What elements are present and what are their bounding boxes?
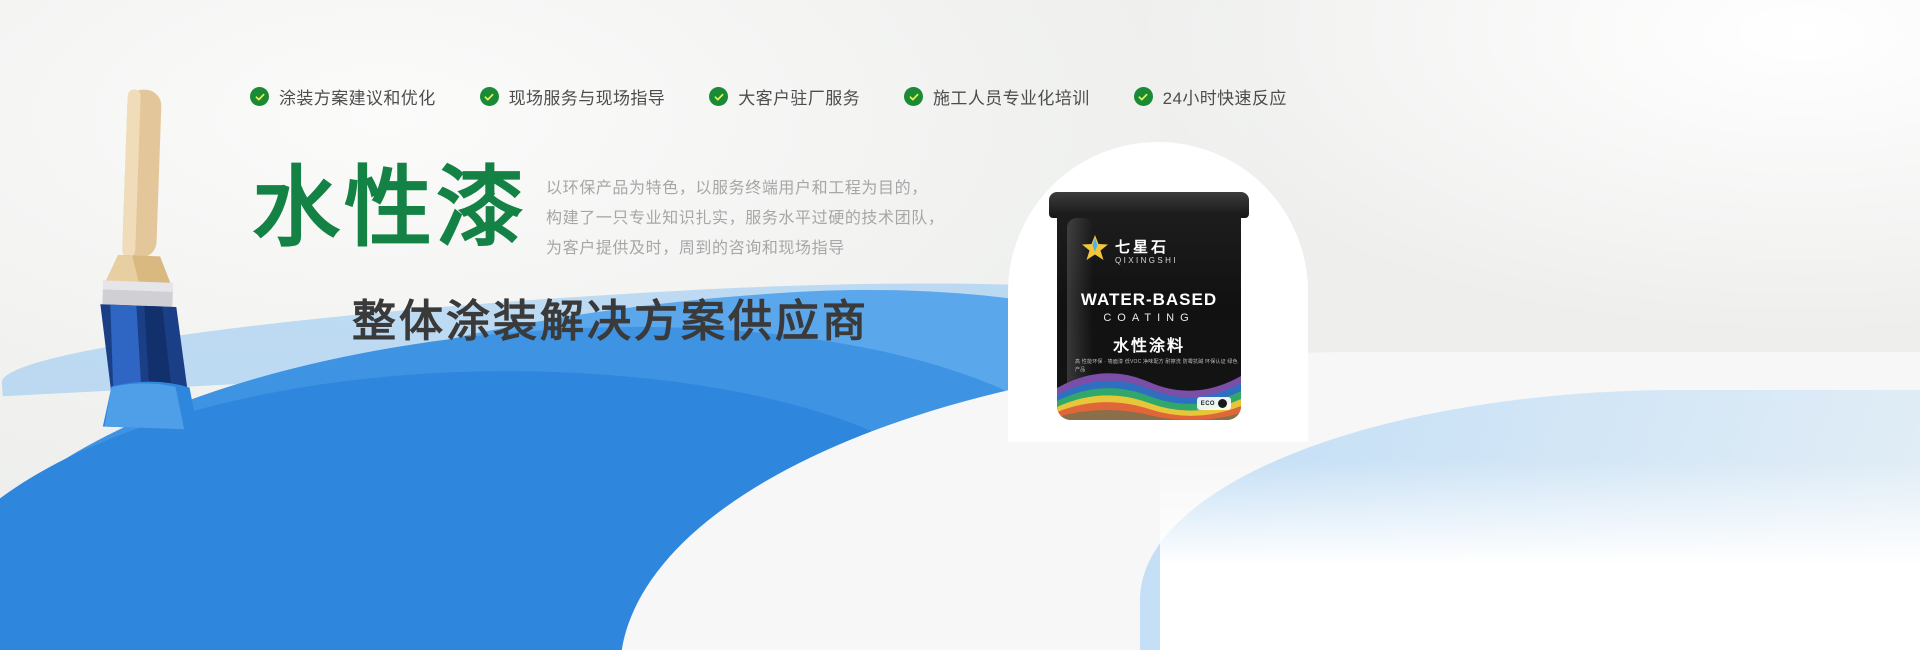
eco-label: ECO [1201,401,1215,407]
brand-name-en: QIXINGSHI [1115,256,1178,265]
check-circle-icon [709,87,728,106]
description-line: 为客户提供及时，周到的咨询和现场指导 [546,234,944,264]
feature-label: 大客户驻厂服务 [738,84,860,109]
promo-banner: 涂装方案建议和优化 现场服务与现场指导 大客户驻厂服务 施工人员专业化培训 24… [0,0,1920,650]
product-bucket-image: 七星石 QIXINGSHI WATER-BASED COATING 水性涂料 高… [1043,192,1255,424]
eco-badge: ECO [1197,397,1231,410]
headline-block: 水性漆 以环保产品为特色，以服务终端用户和工程为目的， 构建了一只专业知识扎实，… [252,160,944,264]
page-title: 水性漆 [252,160,528,256]
description-block: 以环保产品为特色，以服务终端用户和工程为目的， 构建了一只专业知识扎实，服务水平… [546,160,944,264]
check-circle-icon [904,87,923,106]
feature-label: 现场服务与现场指导 [509,84,666,109]
wave-bottom-fade [1160,460,1920,650]
brand-name-cn: 七星石 [1115,236,1169,257]
subheadline: 整体涂装解决方案供应商 [352,285,869,349]
bucket-body: 七星石 QIXINGSHI WATER-BASED COATING 水性涂料 高… [1057,212,1241,420]
feature-item[interactable]: 现场服务与现场指导 [480,84,666,109]
check-circle-icon [1134,87,1153,106]
product-name-en-sub: COATING [1057,312,1241,324]
description-line: 以环保产品为特色，以服务终端用户和工程为目的， [546,174,944,204]
feature-item[interactable]: 施工人员专业化培训 [904,84,1090,109]
paintbrush-icon [54,85,246,431]
feature-item[interactable]: 24小时快速反应 [1134,84,1287,109]
feature-list: 涂装方案建议和优化 现场服务与现场指导 大客户驻厂服务 施工人员专业化培训 24… [250,84,1287,109]
check-circle-icon [480,87,499,106]
star-logo-icon [1081,234,1109,264]
check-circle-icon [250,87,269,106]
description-line: 构建了一只专业知识扎实，服务水平过硬的技术团队， [546,204,944,234]
product-name-en: WATER-BASED [1057,290,1241,310]
feature-label: 24小时快速反应 [1163,84,1287,109]
eco-dot-icon [1218,399,1227,408]
feature-item[interactable]: 涂装方案建议和优化 [250,84,436,109]
feature-label: 施工人员专业化培训 [933,84,1090,109]
feature-label: 涂装方案建议和优化 [279,84,436,109]
feature-item[interactable]: 大客户驻厂服务 [709,84,860,109]
